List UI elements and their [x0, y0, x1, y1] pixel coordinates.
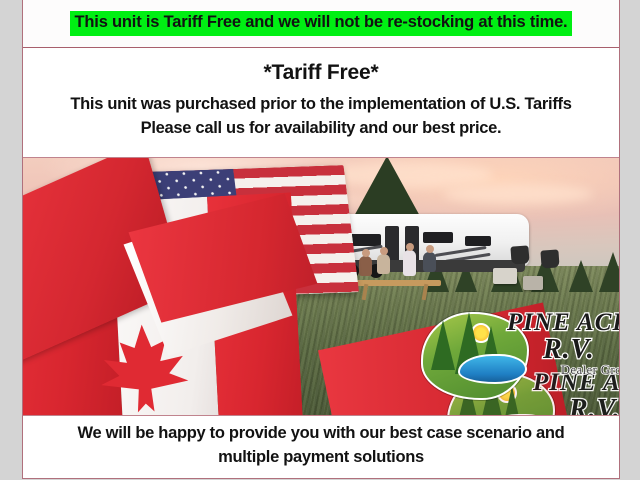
logo-tagline: Dealer Group [561, 364, 619, 378]
tariff-notice-line-2: Please call us for availability and our … [141, 117, 502, 140]
tariff-notice-block: *Tariff Free* This unit was purchased pr… [23, 48, 619, 158]
listing-card: This unit is Tariff Free and we will not… [22, 0, 620, 479]
listing-photo[interactable]: PINE ACRES R.V. PINE ACRES R.V. Dealer G… [23, 158, 619, 416]
logo-name-line-1: PINE ACRES [507, 310, 619, 335]
camper-person [403, 250, 416, 276]
snow-cap [143, 188, 185, 204]
tariff-banner-text: This unit is Tariff Free and we will not… [70, 11, 573, 36]
pine-tree-icon [569, 260, 593, 292]
table-leg [422, 284, 429, 300]
cloud-shape [443, 184, 593, 204]
pine-acres-logo-primary: PINE ACRES R.V. Dealer Group [421, 310, 619, 406]
camper-person [423, 252, 436, 272]
logo-wordmark: PINE ACRES R.V. Dealer Group [507, 310, 619, 378]
storage-box [523, 276, 543, 290]
trailer-window [423, 232, 453, 243]
trailer-window [307, 230, 321, 243]
pine-tree-icon [263, 264, 283, 292]
payment-message-block: We will be happy to provide you with our… [23, 416, 619, 478]
payment-message-line-2: multiple payment solutions [218, 446, 424, 470]
pine-tree-icon [599, 252, 619, 292]
cooler-box [493, 268, 517, 284]
tariff-banner-row: This unit is Tariff Free and we will not… [23, 0, 619, 48]
camper-person [377, 254, 390, 274]
logo-name-line-2: R.V. [543, 335, 619, 364]
trailer-window [339, 234, 381, 246]
pine-tree-icon [67, 209, 119, 287]
camp-chair [510, 245, 529, 264]
tariff-notice-title: *Tariff Free* [264, 61, 379, 85]
camp-chair [540, 249, 559, 268]
table-leg [362, 284, 369, 300]
camper-person [359, 256, 372, 276]
pine-tree-icon [233, 258, 257, 292]
tariff-notice-line-1: This unit was purchased prior to the imp… [70, 93, 571, 116]
pine-tree-icon [431, 320, 455, 370]
payment-message-line-1: We will be happy to provide you with our… [78, 422, 565, 446]
trailer-window [465, 236, 491, 246]
